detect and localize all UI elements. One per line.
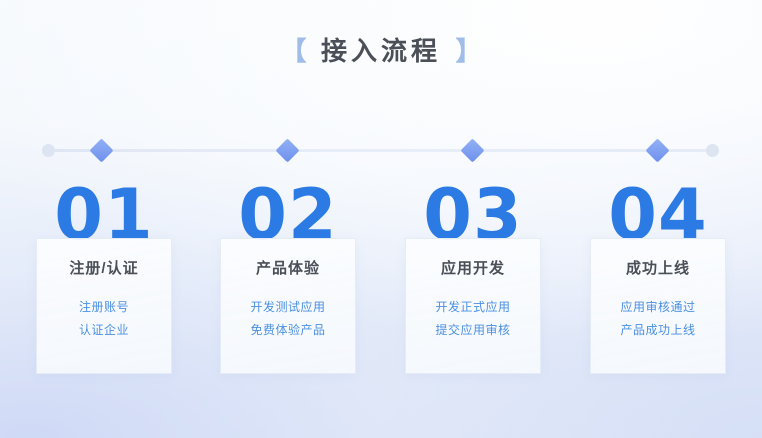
step-detail-2-line-1: 开发测试应用 (221, 296, 355, 319)
step-item-3[interactable]: 03 应用开发 开发正式应用 提交应用审核 (383, 180, 563, 380)
step-detail-1-line-2: 认证企业 (37, 319, 171, 342)
step-detail-4-line-1: 应用审核通过 (591, 296, 725, 319)
step-detail-2-line-2: 免费体验产品 (221, 319, 355, 342)
step-detail-3-line-1: 开发正式应用 (406, 296, 540, 319)
step-card-2[interactable]: 产品体验 开发测试应用 免费体验产品 (220, 238, 356, 374)
step-card-3[interactable]: 应用开发 开发正式应用 提交应用审核 (405, 238, 541, 374)
step-item-4[interactable]: 04 成功上线 应用审核通过 产品成功上线 (568, 180, 748, 380)
step-item-2[interactable]: 02 产品体验 开发测试应用 免费体验产品 (198, 180, 378, 380)
step-card-1[interactable]: 注册/认证 注册账号 认证企业 (36, 238, 172, 374)
step-detail-1-line-1: 注册账号 (37, 296, 171, 319)
step-title-4: 成功上线 (591, 261, 725, 276)
step-title-2: 产品体验 (221, 261, 355, 276)
step-title-3: 应用开发 (406, 261, 540, 276)
step-detail-3-line-2: 提交应用审核 (406, 319, 540, 342)
step-title-1: 注册/认证 (37, 261, 171, 276)
steps-container: 01 注册/认证 注册账号 认证企业 02 产品体验 开发测试应用 免费体验产品… (0, 0, 762, 438)
flow-diagram-stage: 【 接入流程 】 01 注册/认证 注册账号 认证企业 02 产品体验 开发测试… (0, 0, 762, 438)
step-item-1[interactable]: 01 注册/认证 注册账号 认证企业 (14, 180, 194, 380)
step-card-4[interactable]: 成功上线 应用审核通过 产品成功上线 (590, 238, 726, 374)
step-detail-4-line-2: 产品成功上线 (591, 319, 725, 342)
